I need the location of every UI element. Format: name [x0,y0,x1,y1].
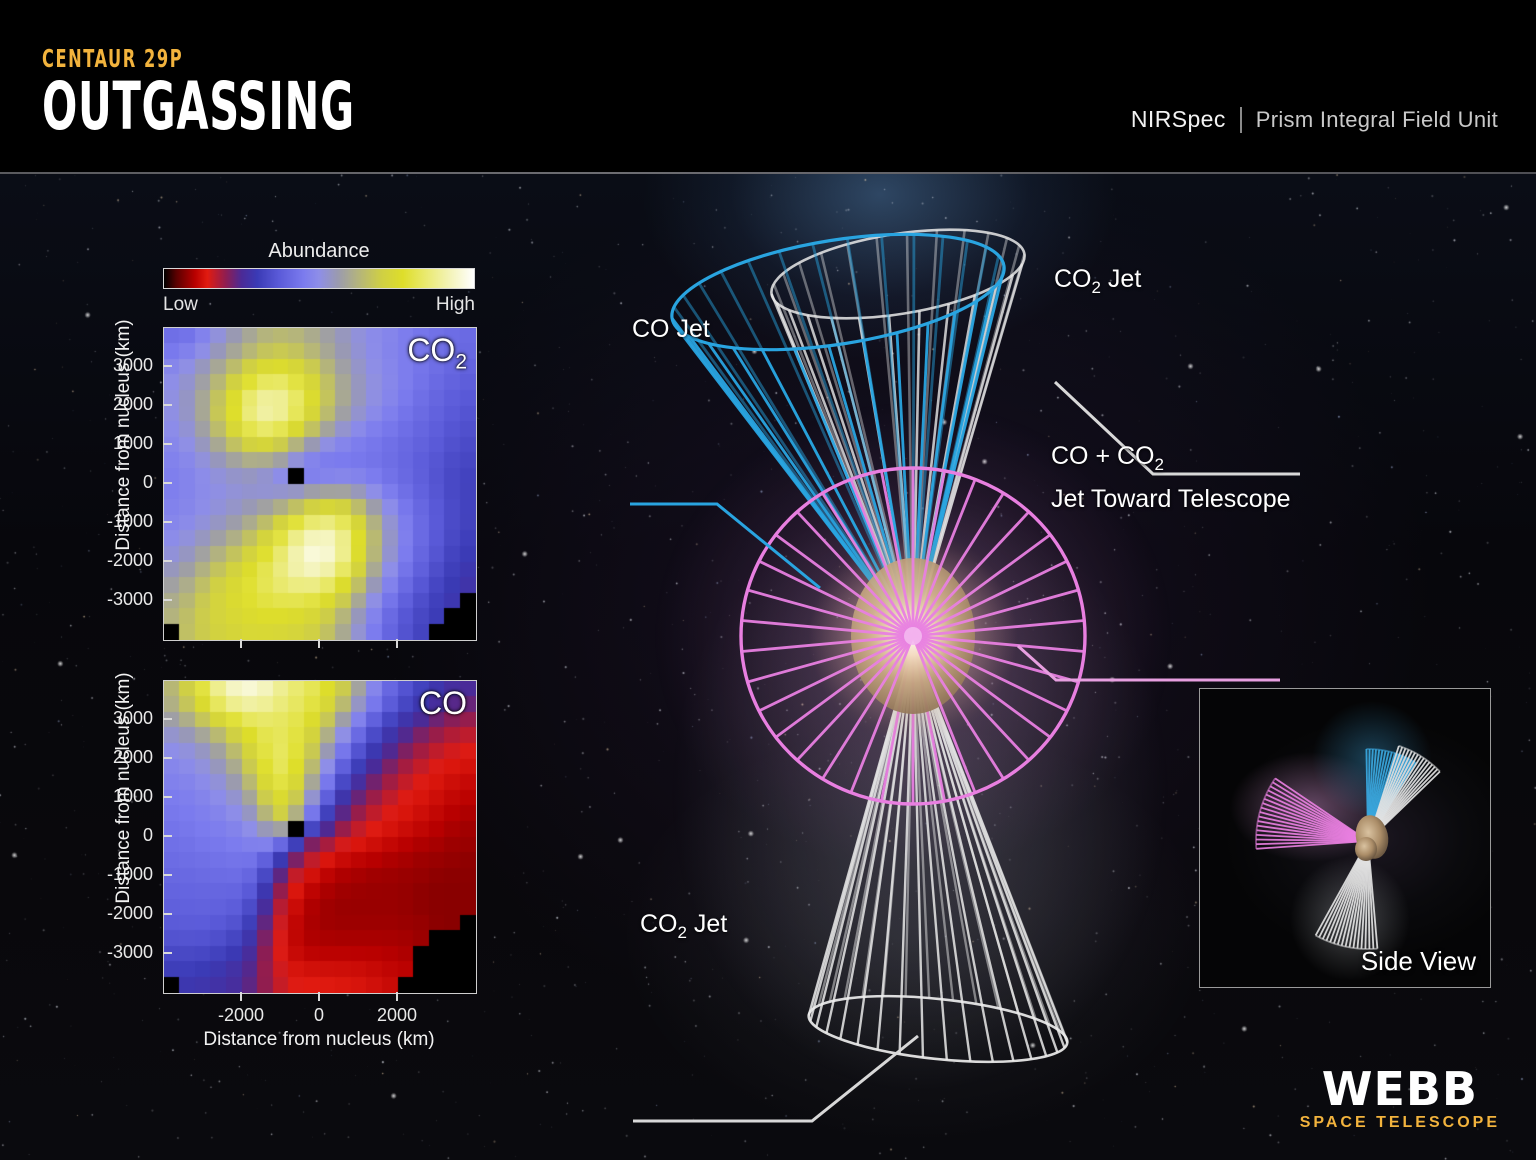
y-axis-title-co: Distance from nucleus (km) [113,638,135,938]
colorbar-high-label: High [436,294,475,316]
y-tick-label: -3000 [58,942,153,963]
y-tick-mark [163,443,172,445]
y-tick-label: 1000 [58,786,153,807]
y-tick-label: 2000 [58,747,153,768]
y-tick-mark [163,913,172,915]
instrument-info: NIRSpec Prism Integral Field Unit [1131,106,1498,133]
y-tick-mark [163,599,172,601]
x-tick-mark [396,992,398,1001]
y-tick-label: -2000 [58,550,153,571]
side-view-inset: Side View [1199,688,1491,988]
x-tick-label: 2000 [347,1005,447,1026]
heatmap-species-label-co: CO [419,685,467,722]
divider-bar [1240,107,1242,133]
logo-tagline: SPACE TELESCOPE [1300,1114,1500,1132]
y-tick-label: 1000 [58,433,153,454]
x-tick-mark [240,992,242,1001]
x-tick-mark [240,639,242,648]
y-tick-mark [163,718,172,720]
webb-logo: WEBB SPACE TELESCOPE [1300,1067,1500,1132]
y-axis-title-co2: Distance from nucleus (km) [113,285,135,585]
label-pink-jet: CO + CO2 Jet Toward Telescope [1051,439,1291,516]
x-tick-mark [318,639,320,648]
y-tick-label: -2000 [58,903,153,924]
heatmap-panel-co2: CO2 [163,327,477,641]
abundance-colorbar [163,268,475,289]
y-tick-label: -3000 [58,589,153,610]
side-view-label: Side View [1361,946,1476,977]
y-tick-mark [163,757,172,759]
logo-wordmark: WEBB [1300,1067,1500,1111]
y-tick-mark [163,482,172,484]
y-tick-mark [163,521,172,523]
y-tick-label: 2000 [58,394,153,415]
abundance-maps-column: Abundance Low High CO2 CO 3000200010000-… [0,174,520,1160]
heatmap-panel-co: CO [163,680,477,994]
x-axis-title: Distance from nucleus (km) [169,1029,469,1051]
label-co2-jet-bottom: CO2 Jet [640,910,727,943]
heatmap-species-label-co2: CO2 [407,332,467,374]
x-tick-mark [396,639,398,648]
header-divider [0,172,1536,174]
page-title: OUTGASSING [42,76,355,138]
y-tick-mark [163,952,172,954]
y-tick-label: 3000 [58,355,153,376]
colorbar-title: Abundance [163,240,475,263]
y-tick-label: 0 [58,825,153,846]
y-tick-mark [163,796,172,798]
y-tick-mark [163,835,172,837]
y-tick-label: -1000 [58,511,153,532]
label-co-jet: CO Jet [632,315,710,344]
instrument-mode: Prism Integral Field Unit [1256,107,1498,133]
label-co2-jet-top: CO2 Jet [1054,265,1141,298]
instrument-name: NIRSpec [1131,106,1226,133]
y-tick-mark [163,560,172,562]
infographic-root: CENTAUR 29P OUTGASSING NIRSpec Prism Int… [0,0,1536,1160]
y-tick-mark [163,874,172,876]
y-tick-label: 3000 [58,708,153,729]
y-tick-label: -1000 [58,864,153,885]
side-view-svg [1200,689,1490,987]
colorbar-low-label: Low [163,294,198,316]
x-tick-mark [318,992,320,1001]
heatmap-canvas-co [164,681,476,993]
y-tick-mark [163,365,172,367]
heatmap-canvas-co2 [164,328,476,640]
header-bar: CENTAUR 29P OUTGASSING NIRSpec Prism Int… [0,0,1536,172]
y-tick-label: 0 [58,472,153,493]
y-tick-mark [163,404,172,406]
jet-illustration: CO Jet CO2 Jet CO + CO2 Jet Toward Teles… [520,174,1536,1160]
